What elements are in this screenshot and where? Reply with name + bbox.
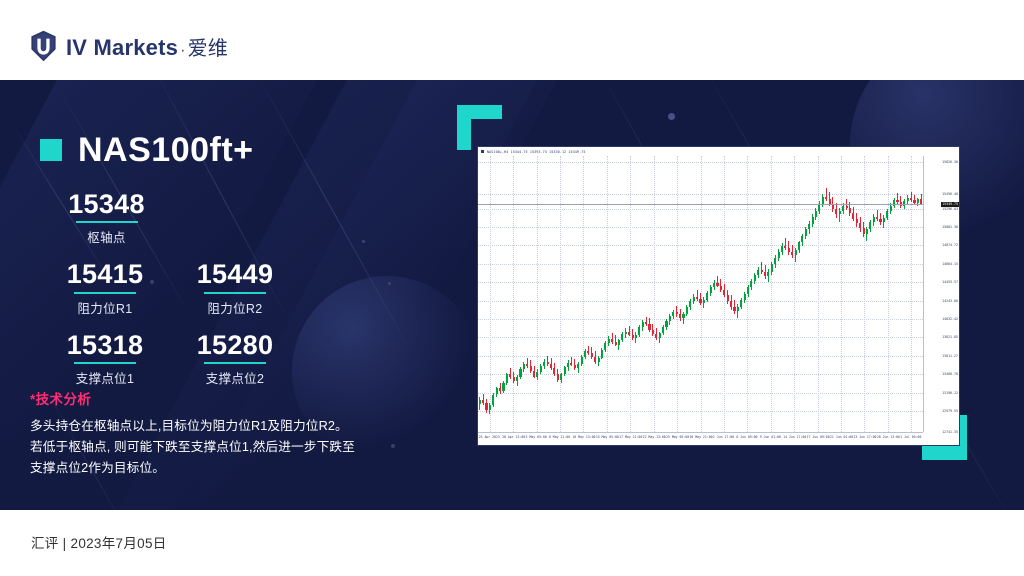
price-level-value: 15280	[170, 331, 300, 359]
candlestick-body	[557, 374, 559, 379]
price-level-row: 15415 阻力位R1 15449 阻力位R2	[40, 260, 300, 330]
candlestick-body	[496, 388, 498, 394]
candlestick-body	[655, 334, 657, 338]
chart-price-tick: 12979.55	[942, 409, 958, 413]
bg-dot	[388, 282, 391, 285]
candlestick-body	[489, 405, 491, 410]
candlestick-body	[645, 322, 647, 324]
candlestick-body	[723, 290, 725, 295]
candlestick-body	[594, 357, 596, 362]
candlestick-body	[849, 208, 851, 213]
candlestick-body	[798, 242, 800, 250]
chart-price-tick: 14664.15	[942, 262, 958, 266]
candlestick-body	[648, 324, 650, 330]
candlestick-body	[818, 204, 820, 211]
candlestick-body	[638, 327, 640, 335]
chart-price-tick: 15081.30	[942, 225, 958, 229]
candlestick-body	[774, 258, 776, 265]
candlestick-body	[662, 327, 664, 333]
candlestick-body	[761, 270, 763, 271]
candlestick-body	[621, 334, 623, 340]
slide-root: IV Markets·爱维	[0, 0, 1024, 576]
candlestick-body	[730, 301, 732, 307]
candlestick-body	[757, 270, 759, 274]
chart-marker-icon	[481, 150, 484, 153]
candlestick-body	[679, 314, 681, 318]
chart-price-tick: 14243.00	[942, 299, 958, 303]
candlestick-body	[913, 200, 915, 203]
candlestick-body	[533, 371, 535, 377]
chart-time-tick: 6 Jun 09:00	[736, 435, 757, 439]
candlestick-body	[574, 365, 576, 368]
current-price-label: 15349.75	[941, 202, 959, 207]
candlestick-body	[890, 206, 892, 211]
candlestick-body	[781, 246, 783, 252]
price-level-underline	[204, 292, 266, 294]
candlestick-wick	[571, 357, 572, 367]
iv-markets-shield-logo-icon	[30, 30, 57, 62]
candlestick-body	[492, 395, 494, 405]
chart-price-tick: 14874.72	[942, 243, 958, 247]
analysis-body: 多头持仓在枢轴点以上,目标位为阻力位R1及阻力位R2。 若低于枢轴点, 则可能下…	[30, 416, 400, 479]
candlestick-body	[764, 272, 766, 277]
candlestick-body	[577, 364, 579, 368]
chart-price-tick: 13400.70	[942, 372, 958, 376]
candlestick-body	[716, 283, 718, 285]
chart-time-axis[interactable]: 25 Apr 202328 Apr 13:003 May 05:008 May …	[478, 432, 923, 445]
candlestick-wick	[717, 276, 718, 287]
candlestick-body	[859, 223, 861, 228]
chart-gridline-vertical	[490, 156, 491, 432]
candlestick-body	[689, 301, 691, 307]
chart-time-tick: 1 Jun 17:00	[713, 435, 734, 439]
chart-price-axis[interactable]: 15826.3015456.4015296.0315081.3014874.72…	[923, 156, 959, 432]
candlestick-body	[564, 367, 566, 374]
footer-caption: 汇评 | 2023年7月05日	[31, 532, 167, 552]
chart-gridline-vertical	[794, 156, 795, 432]
price-level-underline	[204, 362, 266, 364]
chart-time-tick: 30 May 21:00	[690, 435, 713, 439]
candlestick-body	[896, 200, 898, 202]
candlestick-body	[866, 229, 868, 233]
candlestick-body	[771, 264, 773, 272]
candlestick-body	[604, 343, 606, 350]
candlestick-body	[553, 368, 555, 374]
chart-gridline-vertical	[513, 156, 514, 432]
candlestick-body	[659, 333, 661, 337]
brand-logo: IV Markets·爱维	[30, 30, 228, 62]
price-level-underline	[74, 292, 136, 294]
candlestick-body	[523, 364, 525, 369]
chart-time-tick: 17 Jun 09:00	[807, 435, 830, 439]
brand-separator: ·	[178, 42, 188, 59]
candlestick-body	[778, 252, 780, 258]
candlestick-body	[570, 363, 572, 365]
chart-gridline-vertical	[818, 156, 819, 432]
chart-plot-area[interactable]	[478, 156, 923, 432]
analysis-line: 支撑点位2作为目标位。	[30, 458, 400, 479]
chart-time-tick: 21 Jun 01:00	[830, 435, 853, 439]
candlestick-body	[567, 363, 569, 367]
candlestick-body	[917, 199, 919, 202]
chart-gridline-vertical	[677, 156, 678, 432]
candlestick-body	[669, 316, 671, 321]
candlestick-body	[547, 362, 549, 364]
chart-time-tick: 14 Jun 17:00	[783, 435, 806, 439]
price-level-label: 阻力位R2	[170, 298, 300, 317]
candlestick-body	[879, 219, 881, 222]
candlestick-body	[856, 219, 858, 223]
candlestick-body	[733, 307, 735, 311]
candlestick-body	[519, 369, 521, 377]
candlestick-body	[536, 372, 538, 377]
candlestick-body	[502, 383, 504, 391]
chart-time-tick: 8 May 21:00	[549, 435, 570, 439]
candlestick-body	[703, 300, 705, 303]
chart-time-tick: 3 May 05:00	[526, 435, 547, 439]
candlestick-body	[686, 307, 688, 314]
candlestick-body	[516, 377, 518, 381]
candlestick-body	[852, 213, 854, 218]
candlestick-body	[618, 340, 620, 344]
candlestick-body	[788, 248, 790, 252]
chart-time-tick: 28 Apr 13:00	[502, 435, 525, 439]
candlestick-body	[526, 364, 528, 366]
chart-gridline-vertical	[771, 156, 772, 432]
candlestick-body	[540, 366, 542, 372]
candlestick-body	[611, 339, 613, 341]
candlestick-body	[665, 321, 667, 327]
chart-gridline-vertical	[630, 156, 631, 432]
chart-price-tick: 13190.12	[942, 391, 958, 395]
candlestick-body	[584, 351, 586, 357]
bg-dot	[668, 113, 675, 120]
chart-gridline-vertical	[537, 156, 538, 432]
candlestick-body	[842, 206, 844, 211]
candlestick-body	[625, 332, 627, 335]
candlestick-body	[682, 314, 684, 318]
footer-bar: 汇评 | 2023年7月05日	[0, 510, 1024, 576]
price-level-value: 15449	[170, 260, 300, 288]
candlestick-body	[883, 218, 885, 222]
candlestick-body	[839, 211, 841, 214]
teal-square-bullet-icon	[40, 139, 62, 161]
candlestick-body	[750, 281, 752, 287]
header-bar: IV Markets·爱维	[0, 0, 1024, 80]
candlestick-body	[699, 299, 701, 303]
candlestick-body	[812, 217, 814, 224]
candlestick-body	[801, 236, 803, 243]
candlestick-wick	[877, 210, 878, 221]
candlestick-body	[513, 377, 515, 381]
candlestick-body	[615, 342, 617, 345]
chart-time-tick: 15 May 05:00	[596, 435, 619, 439]
candlestick-body	[676, 312, 678, 314]
corner-bracket-bottom-right	[922, 446, 967, 460]
chart-gridline-vertical	[841, 156, 842, 432]
candlestick-body	[693, 297, 695, 301]
chart-gridline-vertical	[583, 156, 584, 432]
candlestick-body	[825, 197, 827, 200]
candlestick-body	[737, 307, 739, 311]
candlestick-body	[482, 400, 484, 403]
candlestick-body	[907, 198, 909, 201]
candlestick-wick	[897, 193, 898, 203]
chart-price-tick: 13611.27	[942, 354, 958, 358]
corner-bracket-top-left	[457, 105, 502, 119]
candlestick-body	[706, 293, 708, 300]
candlestick-body	[805, 229, 807, 236]
candlestick-wick	[761, 262, 762, 273]
candlestick-body	[720, 286, 722, 290]
candlestick-body	[509, 374, 511, 377]
candlestick-body	[506, 374, 508, 383]
candlestick-body	[747, 287, 749, 294]
candlestick-body	[530, 366, 532, 371]
candlestick-body	[869, 222, 871, 229]
analysis-heading: *技术分析	[30, 388, 400, 408]
candlestick-body	[635, 335, 637, 338]
candlestick-body	[876, 217, 878, 219]
candlestick-body	[652, 330, 654, 334]
price-level-value: 15348	[40, 190, 173, 218]
chart-price-tick: 15456.40	[942, 192, 958, 196]
chart-gridline-vertical	[607, 156, 608, 432]
chart-time-tick: 1 Jul 05:00	[900, 435, 921, 439]
candlestick-body	[873, 217, 875, 222]
chart-price-tick: 14453.57	[942, 280, 958, 284]
price-level-label: 阻力位R1	[40, 298, 170, 317]
candlestick-body	[672, 312, 674, 316]
candlestick-wick	[785, 238, 786, 250]
brand-name-en: IV Markets	[66, 35, 178, 60]
chart-price-tick: 13821.85	[942, 335, 958, 339]
candlestick-body	[808, 224, 810, 229]
candlestick-body	[479, 400, 481, 404]
price-level-value: 15318	[40, 331, 170, 359]
candlestick-body	[744, 294, 746, 300]
chart-price-tick: 12741.35	[942, 430, 958, 434]
candlestick-body	[591, 353, 593, 357]
candlestick-body	[740, 300, 742, 307]
price-chart[interactable]: NAS100+,H4 15344.75 15393.75 15330.12 15…	[477, 146, 960, 446]
candlestick-body	[835, 209, 837, 214]
chart-price-tick: 14032.42	[942, 317, 958, 321]
analysis-heading-text: 技术分析	[36, 392, 92, 407]
current-price-line	[478, 204, 923, 205]
candlestick-body	[784, 246, 786, 248]
chart-time-tick: 10 May 13:00	[572, 435, 595, 439]
candlestick-body	[846, 206, 848, 209]
chart-gridline-vertical	[560, 156, 561, 432]
technical-analysis-block: *技术分析 多头持仓在枢轴点以上,目标位为阻力位R1及阻力位R2。 若低于枢轴点…	[30, 388, 400, 479]
price-level-label: 枢轴点	[40, 227, 173, 246]
chart-gridline-vertical	[654, 156, 655, 432]
candlestick-body	[886, 211, 888, 218]
bg-dot	[362, 240, 365, 243]
candlestick-wick	[697, 290, 698, 300]
price-level-label: 支撑点位1	[40, 368, 170, 387]
chart-gridline-vertical	[864, 156, 865, 432]
price-level-label: 支撑点位2	[170, 368, 300, 387]
instrument-title-row: NAS100ft+	[40, 133, 254, 167]
chart-price-tick: 15826.30	[942, 160, 958, 164]
candlestick-body	[581, 357, 583, 364]
candlestick-body	[632, 335, 634, 338]
candlestick-body	[587, 351, 589, 353]
chart-gridline-vertical	[888, 156, 889, 432]
price-level-value: 15415	[40, 260, 170, 288]
chart-time-tick: 25 May 05:00	[666, 435, 689, 439]
candlestick-body	[713, 283, 715, 286]
candlestick-body	[767, 272, 769, 276]
candlestick-body	[543, 362, 545, 366]
candlestick-body	[628, 332, 630, 335]
brand-name-cn: 爱维	[188, 38, 228, 60]
price-level-pivot: 15348 枢轴点	[40, 190, 173, 260]
price-level-resistance-1: 15415 阻力位R1	[40, 260, 170, 330]
price-level-underline	[74, 362, 136, 364]
analysis-line: 多头持仓在枢轴点以上,目标位为阻力位R1及阻力位R2。	[30, 416, 400, 437]
chart-header: NAS100+,H4 15344.75 15393.75 15330.12 15…	[478, 147, 959, 156]
candlestick-body	[608, 339, 610, 342]
chart-time-tick: 17 May 21:00	[619, 435, 642, 439]
page-title: NAS100ft+	[78, 133, 254, 167]
price-level-row: 15348 枢轴点	[40, 190, 300, 260]
price-level-underline	[76, 221, 138, 223]
candlestick-body	[560, 374, 562, 379]
brand-name: IV Markets·爱维	[66, 32, 228, 61]
chart-time-tick: 28 Jun 13:00	[877, 435, 900, 439]
candlestick-body	[822, 197, 824, 204]
chart-time-tick: 23 Jun 17:00	[853, 435, 876, 439]
analysis-line: 若低于枢轴点, 则可能下跌至支撑点位1,然后进一步下跌至	[30, 437, 400, 458]
candlestick-body	[910, 198, 912, 200]
chart-price-tick: 15296.03	[942, 207, 958, 211]
candlestick-body	[601, 350, 603, 358]
candlestick-body	[754, 275, 756, 281]
candlestick-body	[791, 252, 793, 255]
price-levels: 15348 枢轴点 15415 阻力位R1 15449 阻力位R2 15318 …	[40, 190, 300, 401]
candlestick-body	[642, 322, 644, 327]
candlestick-body	[727, 295, 729, 301]
chart-ohlc-label: NAS100+,H4 15344.75 15393.75 15330.12 15…	[487, 150, 586, 154]
candlestick-body	[550, 364, 552, 368]
candlestick-body	[710, 287, 712, 293]
candlestick-body	[598, 358, 600, 362]
candlestick-body	[499, 388, 501, 391]
chart-time-tick: 25 Apr 2023	[479, 435, 500, 439]
candlestick-body	[795, 250, 797, 255]
candlestick-body	[863, 228, 865, 233]
chart-time-tick: 22 May 13:00	[643, 435, 666, 439]
candlestick-body	[815, 211, 817, 217]
candlestick-body	[696, 297, 698, 299]
candlestick-body	[485, 403, 487, 410]
chart-time-tick: 9 Jun 01:00	[760, 435, 781, 439]
price-level-resistance-2: 15449 阻力位R2	[170, 260, 300, 330]
